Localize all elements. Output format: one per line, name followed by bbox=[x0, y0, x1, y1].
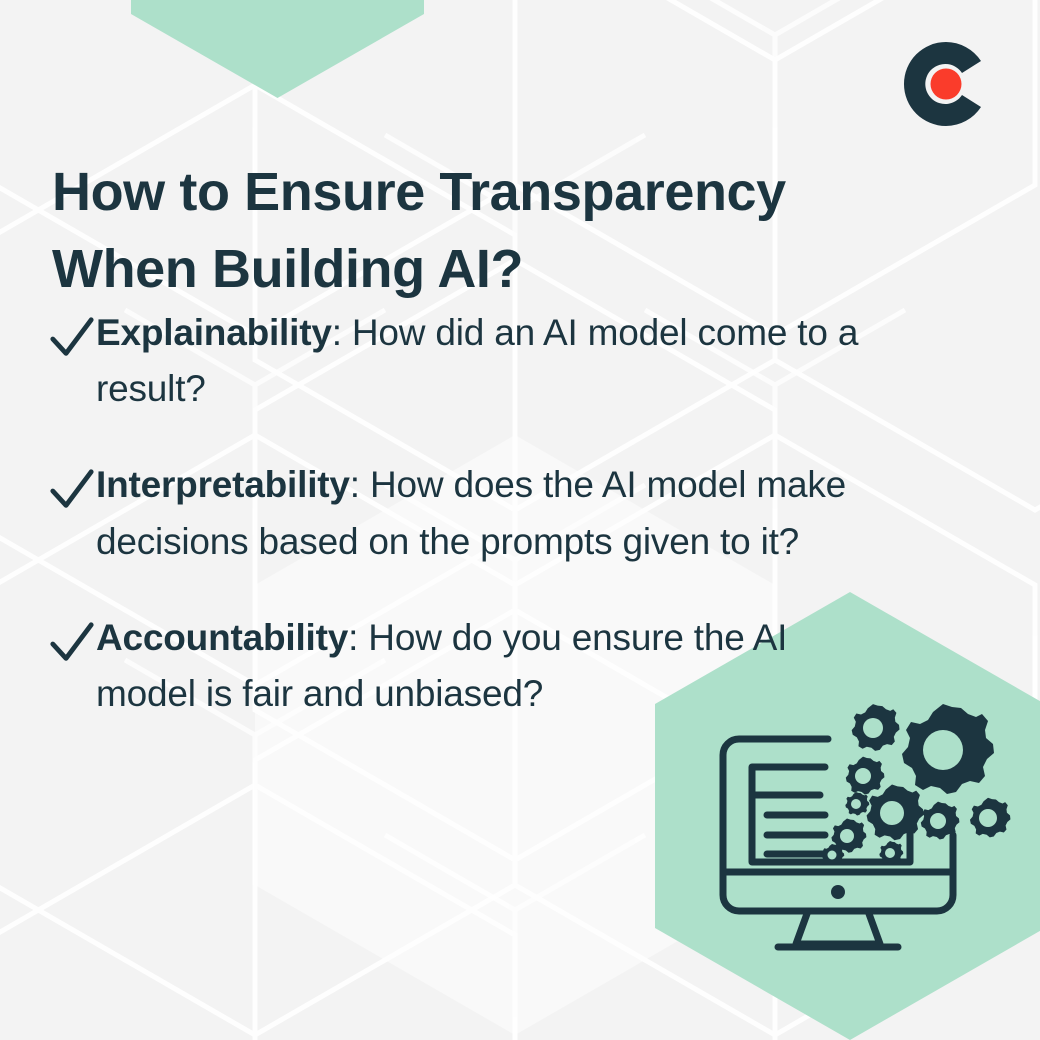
monitor-power-dot-icon bbox=[831, 885, 845, 899]
transparency-pillars-list: Explainability: How did an AI model come… bbox=[48, 303, 878, 760]
list-item: Interpretability: How does the AI model … bbox=[48, 455, 878, 569]
checkmark-icon bbox=[48, 608, 96, 668]
page-title-line-1: How to Ensure Transparency bbox=[52, 154, 882, 231]
list-item-separator: : bbox=[348, 617, 368, 658]
list-item-text: Interpretability: How does the AI model … bbox=[96, 455, 878, 569]
logo-dot-icon bbox=[931, 69, 962, 100]
page-title: How to Ensure Transparency When Building… bbox=[52, 154, 882, 307]
checkmark-icon bbox=[48, 455, 96, 515]
list-item-term: Interpretability bbox=[96, 464, 350, 505]
list-item: Accountability: How do you ensure the AI… bbox=[48, 608, 878, 722]
list-item: Explainability: How did an AI model come… bbox=[48, 303, 878, 417]
list-item-text: Explainability: How did an AI model come… bbox=[96, 303, 878, 417]
infographic-card: How to Ensure Transparency When Building… bbox=[0, 0, 1040, 1040]
brand-logo[interactable] bbox=[898, 36, 994, 132]
list-item-term: Accountability bbox=[96, 617, 348, 658]
green-hexagon-top bbox=[131, 0, 424, 98]
checkmark-icon bbox=[48, 303, 96, 363]
list-item-separator: : bbox=[332, 312, 352, 353]
list-item-separator: : bbox=[350, 464, 370, 505]
list-item-text: Accountability: How do you ensure the AI… bbox=[96, 608, 878, 722]
page-title-line-2: When Building AI? bbox=[52, 231, 882, 308]
list-item-term: Explainability bbox=[96, 312, 332, 353]
